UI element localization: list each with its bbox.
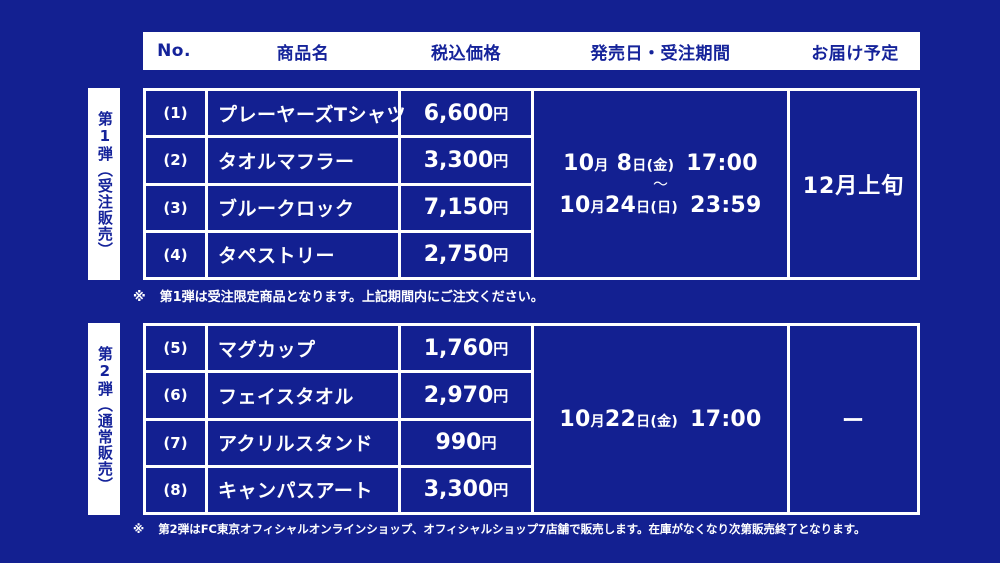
footnote-1: ※第1弾は受注限定商品となります。上記期間内にご注文ください。 <box>133 286 544 305</box>
cell-no: (8) <box>146 468 208 512</box>
yen-unit: 円 <box>493 150 508 171</box>
yen-unit: 円 <box>493 244 508 265</box>
cell-price: 7,150円 <box>401 186 531 230</box>
price-value: 3,300 <box>424 148 494 173</box>
price-value: 2,750 <box>424 242 494 267</box>
table-row: (2) タオルマフラー 3,300円 <box>146 138 531 185</box>
cell-name: キャンパスアート <box>208 468 401 512</box>
cell-price: 990円 <box>401 421 531 465</box>
end-time: 23:59 <box>690 193 762 218</box>
cell-name: アクリルスタンド <box>208 421 401 465</box>
cell-no: (2) <box>146 138 208 182</box>
start-month: 10 <box>563 151 594 176</box>
column-header-delivery: お届け予定 <box>790 39 920 64</box>
price-value: 6,600 <box>424 101 494 126</box>
price-value: 3,300 <box>424 477 494 502</box>
price-value: 7,150 <box>424 195 494 220</box>
delivery-cell-1: 12月上旬 <box>790 91 917 277</box>
yen-unit: 円 <box>493 338 508 359</box>
release-start-line: 10月 8日(金)17:00 <box>563 151 758 176</box>
release-period-cell-2: 10月22日(金)17:00 <box>534 326 790 512</box>
cell-no: (1) <box>146 91 208 135</box>
cell-price: 2,970円 <box>401 373 531 417</box>
note-mark-icon: ※ <box>133 522 144 536</box>
section-side-label-2: 第2弾（通常販売） <box>88 323 120 515</box>
table-row: (8) キャンパスアート 3,300円 <box>146 468 531 512</box>
cell-no: (3) <box>146 186 208 230</box>
product-lineup-slide: No. 商品名 税込価格 発売日・受注期間 お届け予定 第1弾（受注販売） (1… <box>0 0 1000 563</box>
table-row: (1) プレーヤーズTシャツ 6,600円 <box>146 91 531 138</box>
start-day: 22 <box>605 407 636 432</box>
cell-name: ブルークロック <box>208 186 401 230</box>
column-header-date: 発売日・受注期間 <box>531 39 790 64</box>
end-day-unit: 日 <box>636 200 650 216</box>
date-range-separator: 〜 <box>653 177 668 192</box>
column-header-name: 商品名 <box>205 39 401 64</box>
cell-name: フェイスタオル <box>208 373 401 417</box>
cell-name: タペストリー <box>208 233 401 277</box>
start-month: 10 <box>559 407 590 432</box>
start-time: 17:00 <box>686 151 758 176</box>
product-table-1: (1) プレーヤーズTシャツ 6,600円 (2) タオルマフラー 3,300円… <box>143 88 920 280</box>
footnote-1-text: 第1弾は受注限定商品となります。上記期間内にご注文ください。 <box>160 290 544 305</box>
delivery-cell-2: ー <box>790 326 917 512</box>
release-period-cell-1: 10月 8日(金)17:00 〜 10月24日(日)23:59 <box>534 91 790 277</box>
table-row: (7) アクリルスタンド 990円 <box>146 421 531 468</box>
column-header-price: 税込価格 <box>401 39 531 64</box>
cell-price: 3,300円 <box>401 468 531 512</box>
cell-price: 2,750円 <box>401 233 531 277</box>
start-day: 8 <box>609 151 633 176</box>
cell-name: マグカップ <box>208 326 401 370</box>
start-weekday: (金) <box>650 414 678 430</box>
cell-no: (5) <box>146 326 208 370</box>
end-month: 10 <box>559 193 590 218</box>
table-header-row: No. 商品名 税込価格 発売日・受注期間 お届け予定 <box>143 32 920 70</box>
table-row: (3) ブルークロック 7,150円 <box>146 186 531 233</box>
cell-price: 6,600円 <box>401 91 531 135</box>
start-day-unit: 日 <box>632 158 646 174</box>
end-weekday: (日) <box>650 200 678 216</box>
start-day-unit: 日 <box>636 414 650 430</box>
cell-name: プレーヤーズTシャツ <box>208 91 401 135</box>
yen-unit: 円 <box>493 385 508 406</box>
section-side-label-1: 第1弾（受注販売） <box>88 88 120 280</box>
release-end-line: 10月24日(日)23:59 <box>559 193 761 218</box>
product-table-2: (5) マグカップ 1,760円 (6) フェイスタオル 2,970円 (7) … <box>143 323 920 515</box>
section-second-wave: 第2弾（通常販売） (5) マグカップ 1,760円 (6) フェイスタオル 2… <box>88 323 920 515</box>
start-weekday: (金) <box>647 158 675 174</box>
cell-price: 1,760円 <box>401 326 531 370</box>
cell-no: (4) <box>146 233 208 277</box>
table-row: (4) タペストリー 2,750円 <box>146 233 531 277</box>
table-row: (6) フェイスタオル 2,970円 <box>146 373 531 420</box>
price-value: 1,760 <box>424 336 494 361</box>
note-mark-icon: ※ <box>133 290 146 305</box>
section-first-wave: 第1弾（受注販売） (1) プレーヤーズTシャツ 6,600円 (2) タオルマ… <box>88 88 920 280</box>
table-rows-2: (5) マグカップ 1,760円 (6) フェイスタオル 2,970円 (7) … <box>146 326 534 512</box>
footnote-2: ※第2弾はFC東京オフィシャルオンラインショップ、オフィシャルショップ7店舗で販… <box>133 521 866 537</box>
yen-unit: 円 <box>493 479 508 500</box>
end-day: 24 <box>605 193 636 218</box>
yen-unit: 円 <box>493 103 508 124</box>
yen-unit: 円 <box>493 197 508 218</box>
start-month-unit: 月 <box>591 414 605 430</box>
start-month-unit: 月 <box>594 158 608 174</box>
end-month-unit: 月 <box>591 200 605 216</box>
price-value: 990 <box>436 430 482 455</box>
start-time: 17:00 <box>690 407 762 432</box>
column-header-no: No. <box>143 41 205 61</box>
table-row: (5) マグカップ 1,760円 <box>146 326 531 373</box>
yen-unit: 円 <box>481 432 496 453</box>
cell-name: タオルマフラー <box>208 138 401 182</box>
cell-price: 3,300円 <box>401 138 531 182</box>
price-value: 2,970 <box>424 383 494 408</box>
cell-no: (6) <box>146 373 208 417</box>
footnote-2-text: 第2弾はFC東京オフィシャルオンラインショップ、オフィシャルショップ7店舗で販売… <box>158 522 865 536</box>
release-start-line: 10月22日(金)17:00 <box>559 407 761 432</box>
cell-no: (7) <box>146 421 208 465</box>
table-rows-1: (1) プレーヤーズTシャツ 6,600円 (2) タオルマフラー 3,300円… <box>146 91 534 277</box>
